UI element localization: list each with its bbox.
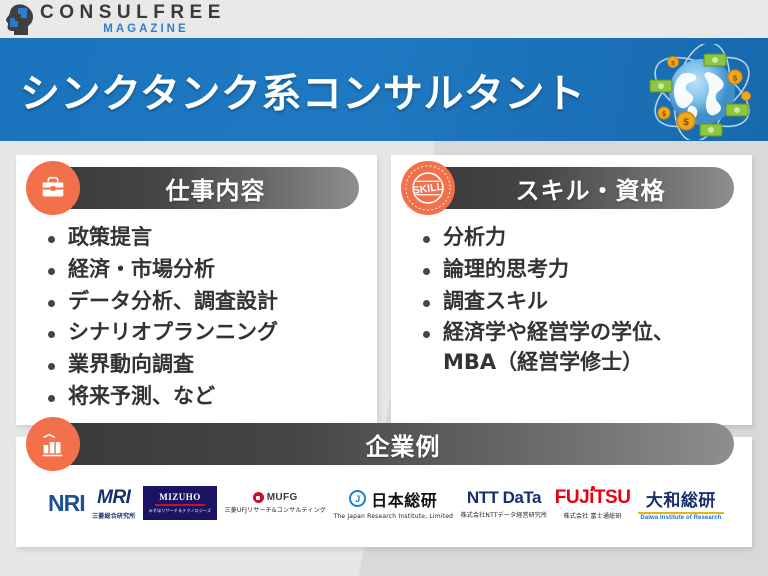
list-item: 将来予測、など <box>44 382 363 412</box>
list-item: シナリオプランニング <box>44 318 363 348</box>
company-logo-daiwa: 大和総研 Daiwa Institute of Research <box>638 479 724 527</box>
company-sub: 株式会社NTTデータ経営研究所 <box>461 510 548 519</box>
job-description-list: 政策提言 経済・市場分析 データ分析、調査設計 シナリオプランニング 業界動向調… <box>26 217 367 412</box>
company-name: NTT DaTa <box>467 488 541 508</box>
list-item: 分析力 <box>419 223 738 253</box>
list-item: 調査スキル <box>419 287 738 317</box>
briefcase-icon <box>26 161 80 215</box>
company-sub: 三菱UFJリサーチ&コンサルティング <box>224 505 326 514</box>
company-sub: みずほリサーチ＆テクノロジーズ <box>149 508 212 514</box>
company-name: MRI <box>97 487 130 509</box>
globe-money-icon: $ $ $ $ <box>642 44 762 140</box>
svg-text:$: $ <box>683 117 690 128</box>
company-logo-mufg: MUFG 三菱UFJリサーチ&コンサルティング <box>224 479 326 527</box>
companies-title: 企業例 <box>344 427 441 462</box>
skills-list: 分析力 論理的思考力 調査スキル 経済学や経営学の学位、 MBA（経営学修士） <box>401 217 742 378</box>
company-name: 大和総研 <box>646 486 716 511</box>
card-title: スキル・資格 <box>494 171 666 206</box>
mufg-mark-icon <box>253 492 264 503</box>
company-sub: 三菱総合研究所 <box>92 511 135 520</box>
company-logo-mizuho: MIZUHO みずほリサーチ＆テクノロジーズ <box>143 479 217 527</box>
list-item: 論理的思考力 <box>419 255 738 285</box>
list-item: 政策提言 <box>44 223 363 253</box>
head-puzzle-icon <box>4 2 36 36</box>
svg-text:$: $ <box>662 110 667 118</box>
companies-section: 企業例 NRI MRI 三菱総合研究所 MIZUHO みずほリサ <box>16 437 752 547</box>
card-skills-qualifications: スキル・資格 SKILL 分析力 論理的思考力 調査スキル 経済学や経営学の学位… <box>391 155 752 425</box>
list-item-line2: MBA（経営学修士） <box>443 348 738 378</box>
page-title: シンクタンク系コンサルタント <box>20 61 585 119</box>
brand-sub: MAGAZINE <box>66 23 226 36</box>
jri-mark-icon: J <box>349 490 366 507</box>
company-logo-row: NRI MRI 三菱総合研究所 MIZUHO みずほリサーチ＆テクノロジーズ M… <box>26 475 742 527</box>
card-header: スキル・資格 SKILL <box>401 167 742 211</box>
company-logo-nri: NRI <box>48 479 85 527</box>
company-name: MUFG <box>267 492 298 503</box>
card-title-pill: スキル・資格 <box>425 167 734 209</box>
mizuho-box: MIZUHO みずほリサーチ＆テクノロジーズ <box>143 486 217 520</box>
companies-header: 企業例 <box>26 423 742 467</box>
skill-stamp-icon: SKILL <box>401 161 455 215</box>
svg-text:$: $ <box>671 59 676 67</box>
company-name: MIZUHO <box>159 492 201 502</box>
content-cards: 仕事内容 政策提言 経済・市場分析 データ分析、調査設計 シナリオプランニング … <box>0 141 768 425</box>
list-item: 経済・市場分析 <box>44 255 363 285</box>
company-logo-fujitsu: FUJiTSU 株式会社 富士通総研 <box>555 479 631 527</box>
company-name: 日本総研 <box>371 487 437 511</box>
company-sub: The Japan Research Institute, Limited <box>333 513 453 520</box>
page-header: シンクタンク系コンサルタント $ <box>0 38 768 141</box>
companies-title-pill: 企業例 <box>50 423 734 465</box>
svg-text:$: $ <box>732 74 738 83</box>
brand-bar: CONSULFREE MAGAZINE <box>0 0 768 38</box>
buildings-chart-icon <box>26 417 80 471</box>
card-title: 仕事内容 <box>144 171 266 206</box>
card-title-pill: 仕事内容 <box>50 167 359 209</box>
mizuho-rule <box>155 504 205 506</box>
card-header: 仕事内容 <box>26 167 367 211</box>
company-sub: Daiwa Institute of Research <box>640 515 721 521</box>
brand-name: CONSULFREE <box>40 3 226 23</box>
company-name: FUJiTSU <box>555 487 631 509</box>
company-logo-jri: J 日本総研 The Japan Research Institute, Lim… <box>333 479 453 527</box>
company-sub: 株式会社 富士通総研 <box>564 511 622 520</box>
company-name: NRI <box>48 490 85 517</box>
card-job-description: 仕事内容 政策提言 経済・市場分析 データ分析、調査設計 シナリオプランニング … <box>16 155 377 425</box>
list-item-line1: 経済学や経営学の学位、 <box>443 320 674 344</box>
daiwa-rule <box>638 512 724 514</box>
list-item: 経済学や経営学の学位、 MBA（経営学修士） <box>419 318 738 378</box>
list-item: 業界動向調査 <box>44 350 363 380</box>
list-item: データ分析、調査設計 <box>44 287 363 317</box>
company-logo-nttdata: NTT DaTa 株式会社NTTデータ経営研究所 <box>461 479 548 527</box>
company-logo-mri: MRI 三菱総合研究所 <box>92 479 135 527</box>
